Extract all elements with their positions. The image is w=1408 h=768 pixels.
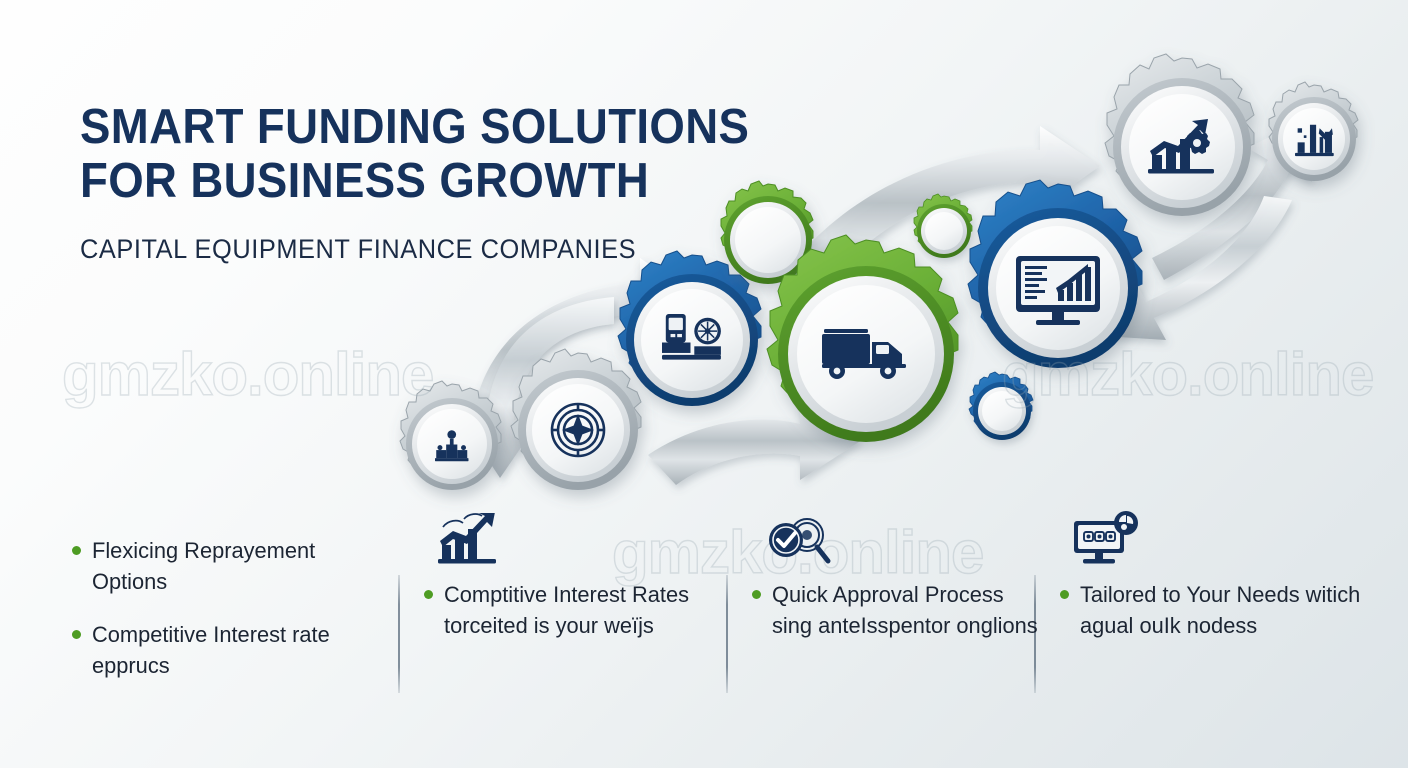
gear-medium-gray [511,349,641,490]
gear-blue-monitor [968,180,1142,368]
bullet-text: Competitive Interest rate epprucs [92,619,381,681]
gear-gray-small-right [1269,82,1358,181]
list-item: Comptitive Interest Rates torceited is y… [424,579,724,641]
feature-competitive-rates: Comptitive Interest Rates torceited is y… [424,505,724,663]
bullet-text: Comptitive Interest Rates torceited is y… [444,579,716,641]
header-block: SMART FUNDING SOLUTIONS FOR BUSINESS GRO… [80,100,800,265]
gear-blue-tiny-bottom [969,372,1033,440]
page-title-line1: SMART FUNDING SOLUTIONS [80,100,749,154]
bullet-text: Flexicing Reprayement Options [92,535,381,597]
bullet-dot [72,630,81,639]
feature-tailored-needs: Tailored to Your Needs witich agual ouIk… [1060,505,1380,663]
feature-row: Flexicing Reprayement Options Competitiv… [0,505,1408,745]
growth-chart-icon [438,505,724,569]
monitor-money-icon [1074,505,1380,569]
bullet-text: Quick Approval Process sing anteIsspento… [772,579,1044,641]
feature-divider-1 [398,575,400,693]
gear-gray-growth [1105,54,1254,216]
page-subtitle: CAPITAL EQUIPMENT FINANCE COMPANIES [80,234,757,265]
list-item: Competitive Interest rate epprucs [72,619,390,681]
feature-quick-approval: Quick Approval Process sing anteIsspento… [752,505,1052,663]
bullet-dot [72,546,81,555]
list-item: Flexicing Reprayement Options [72,535,390,597]
feature-divider-2 [726,575,728,693]
approval-magnifier-icon [766,505,1052,569]
bullet-dot [1060,590,1069,599]
gear-blue-equipment [618,251,761,406]
page-title-line2: FOR BUSINESS GROWTH [80,154,749,208]
list-item: Tailored to Your Needs witich agual ouIk… [1060,579,1380,641]
bullet-dot [424,590,433,599]
bullet-dot [752,590,761,599]
list-item: Quick Approval Process sing anteIsspento… [752,579,1052,641]
feature-flexible-repayment: Flexicing Reprayement Options Competitiv… [72,505,390,703]
page-title: SMART FUNDING SOLUTIONS FOR BUSINESS GRO… [80,100,749,208]
bullet-text: Tailored to Your Needs witich agual ouIk… [1080,579,1371,641]
